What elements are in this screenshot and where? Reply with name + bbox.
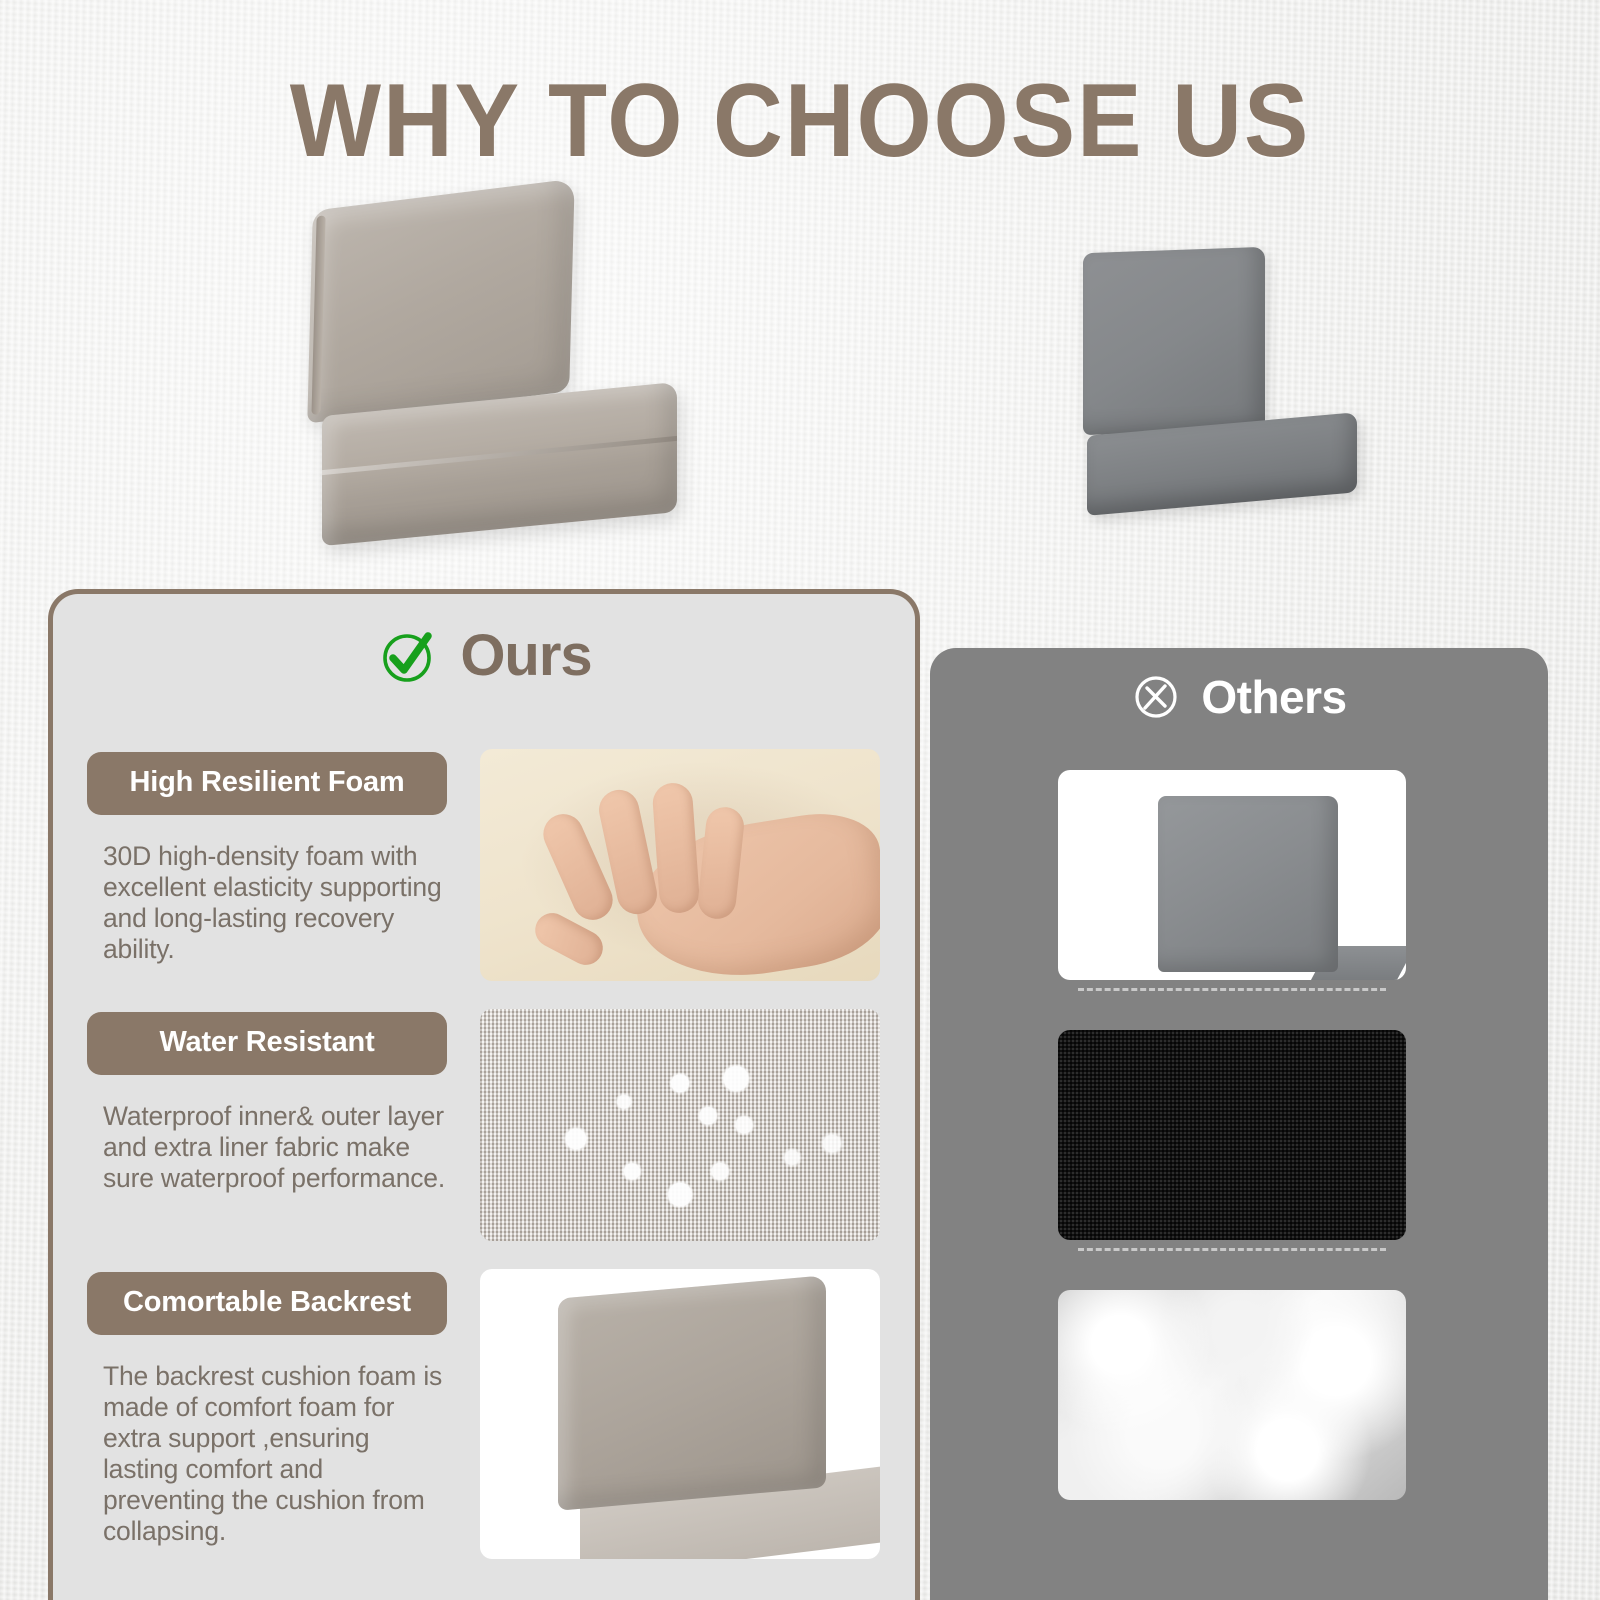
ours-hero-back-cushion <box>307 178 574 423</box>
ours-header: Ours <box>53 622 915 689</box>
others-divider-2 <box>1078 1248 1386 1251</box>
feature-label: Water Resistant <box>87 1012 447 1075</box>
feature-label: High Resilient Foam <box>87 752 447 815</box>
feature-high-resilient-foam: High Resilient Foam 30D high-density foa… <box>87 752 447 965</box>
feature-label: Comortable Backrest <box>87 1272 447 1335</box>
hero-image-ours <box>300 195 700 550</box>
others-media-pillow <box>1058 770 1406 980</box>
ours-heading: Ours <box>460 622 591 689</box>
others-hero-back-cushion <box>1083 247 1265 435</box>
feature-description: 30D high-density foam with excellent ela… <box>87 841 447 965</box>
feature-water-resistant: Water Resistant Waterproof inner& outer … <box>87 1012 447 1194</box>
ours-panel: Ours High Resilient Foam 30D high-densit… <box>48 589 920 1600</box>
others-heading: Others <box>1201 670 1346 724</box>
others-panel: Others <box>930 648 1548 1600</box>
feature-description: Waterproof inner& outer layer and extra … <box>87 1101 447 1194</box>
others-flat-pillow <box>1158 796 1338 972</box>
others-media-fabric <box>1058 1030 1406 1240</box>
ours-media-foam-hand <box>480 749 880 981</box>
check-circle-icon <box>376 625 438 687</box>
others-header: Others <box>930 670 1548 724</box>
hand-finger <box>652 782 701 914</box>
others-divider-1 <box>1078 988 1386 991</box>
ours-cushion-backrest <box>558 1275 826 1510</box>
page-title: WHY TO CHOOSE US <box>56 62 1544 181</box>
others-media-fiber-fill <box>1058 1290 1406 1500</box>
ours-media-backrest-cushion <box>480 1269 880 1559</box>
feature-comfortable-backrest: Comortable Backrest The backrest cushion… <box>87 1272 447 1547</box>
hero-image-others <box>1075 250 1375 500</box>
cross-circle-icon <box>1131 672 1181 722</box>
ours-media-water-droplets <box>480 1009 880 1241</box>
feature-description: The backrest cushion foam is made of com… <box>87 1361 447 1547</box>
